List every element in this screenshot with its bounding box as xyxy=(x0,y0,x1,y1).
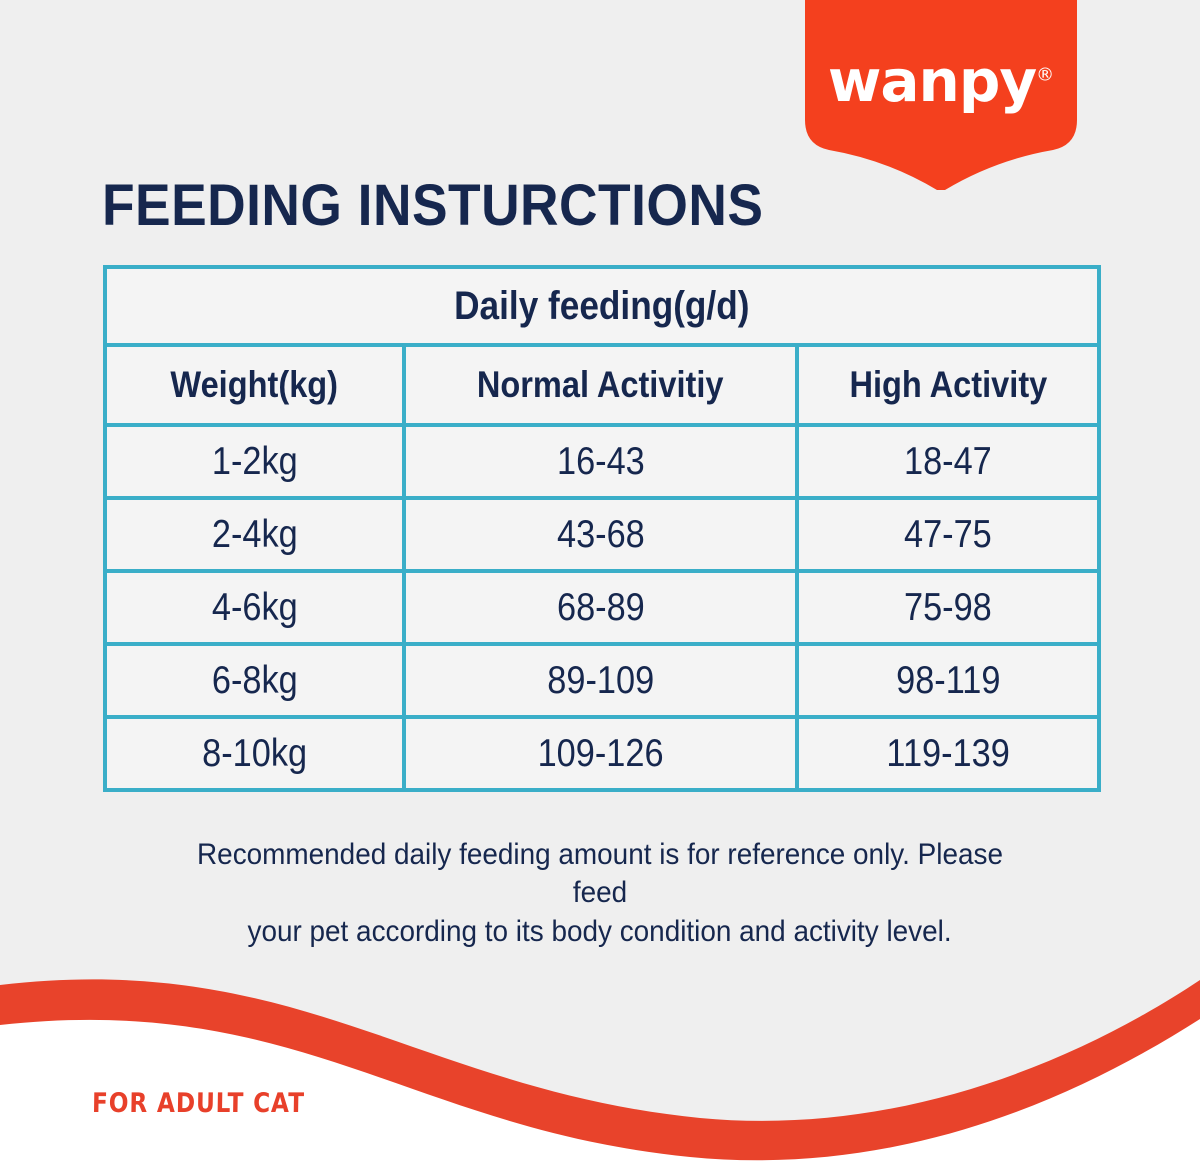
table-header-row: Weight(kg) Normal Activitiy High Activit… xyxy=(105,345,1099,425)
cell-high: 75-98 xyxy=(797,571,1099,644)
column-header-high-activity: High Activity xyxy=(797,345,1099,425)
cell-weight: 4-6kg xyxy=(105,571,404,644)
table-title-cell: Daily feeding(g/d) xyxy=(105,267,1099,345)
column-header-weight: Weight(kg) xyxy=(105,345,404,425)
feeding-table: Daily feeding(g/d) Weight(kg) Normal Act… xyxy=(103,265,1101,792)
cell-high: 98-119 xyxy=(797,644,1099,717)
bottom-wave-decoration xyxy=(0,967,1200,1167)
column-header-normal-activity: Normal Activitiy xyxy=(404,345,797,425)
wanpy-wordmark: wanpy® xyxy=(805,52,1077,110)
cell-high: 47-75 xyxy=(797,498,1099,571)
registered-trademark-icon: ® xyxy=(1036,65,1054,86)
feeding-instructions-page: wanpy® FEEDING INSTURCTIONS Daily feedin… xyxy=(0,0,1200,1167)
logo-text: wanpy xyxy=(828,47,1036,115)
note-line-1: Recommended daily feeding amount is for … xyxy=(172,836,1028,913)
table-title-row: Daily feeding(g/d) xyxy=(105,267,1099,345)
cell-normal: 89-109 xyxy=(404,644,797,717)
table-row: 4-6kg 68-89 75-98 xyxy=(105,571,1099,644)
cell-normal: 43-68 xyxy=(404,498,797,571)
wave-graphic xyxy=(0,967,1200,1167)
page-title: FEEDING INSTURCTIONS xyxy=(102,172,763,239)
table-row: 1-2kg 16-43 18-47 xyxy=(105,425,1099,498)
cell-weight: 2-4kg xyxy=(105,498,404,571)
cell-normal: 16-43 xyxy=(404,425,797,498)
cell-normal: 68-89 xyxy=(404,571,797,644)
cell-normal: 109-126 xyxy=(404,717,797,790)
footer-label: FOR ADULT CAT xyxy=(92,1088,305,1119)
table-title-text: Daily feeding(g/d) xyxy=(454,284,749,329)
wanpy-logo-shield: wanpy® xyxy=(805,0,1077,190)
cell-high: 18-47 xyxy=(797,425,1099,498)
cell-weight: 6-8kg xyxy=(105,644,404,717)
table-row: 6-8kg 89-109 98-119 xyxy=(105,644,1099,717)
table-row: 8-10kg 109-126 119-139 xyxy=(105,717,1099,790)
cell-weight: 8-10kg xyxy=(105,717,404,790)
cell-high: 119-139 xyxy=(797,717,1099,790)
cell-weight: 1-2kg xyxy=(105,425,404,498)
note-line-2: your pet according to its body condition… xyxy=(248,913,952,951)
feeding-disclaimer-note: Recommended daily feeding amount is for … xyxy=(140,836,1060,951)
table-row: 2-4kg 43-68 47-75 xyxy=(105,498,1099,571)
